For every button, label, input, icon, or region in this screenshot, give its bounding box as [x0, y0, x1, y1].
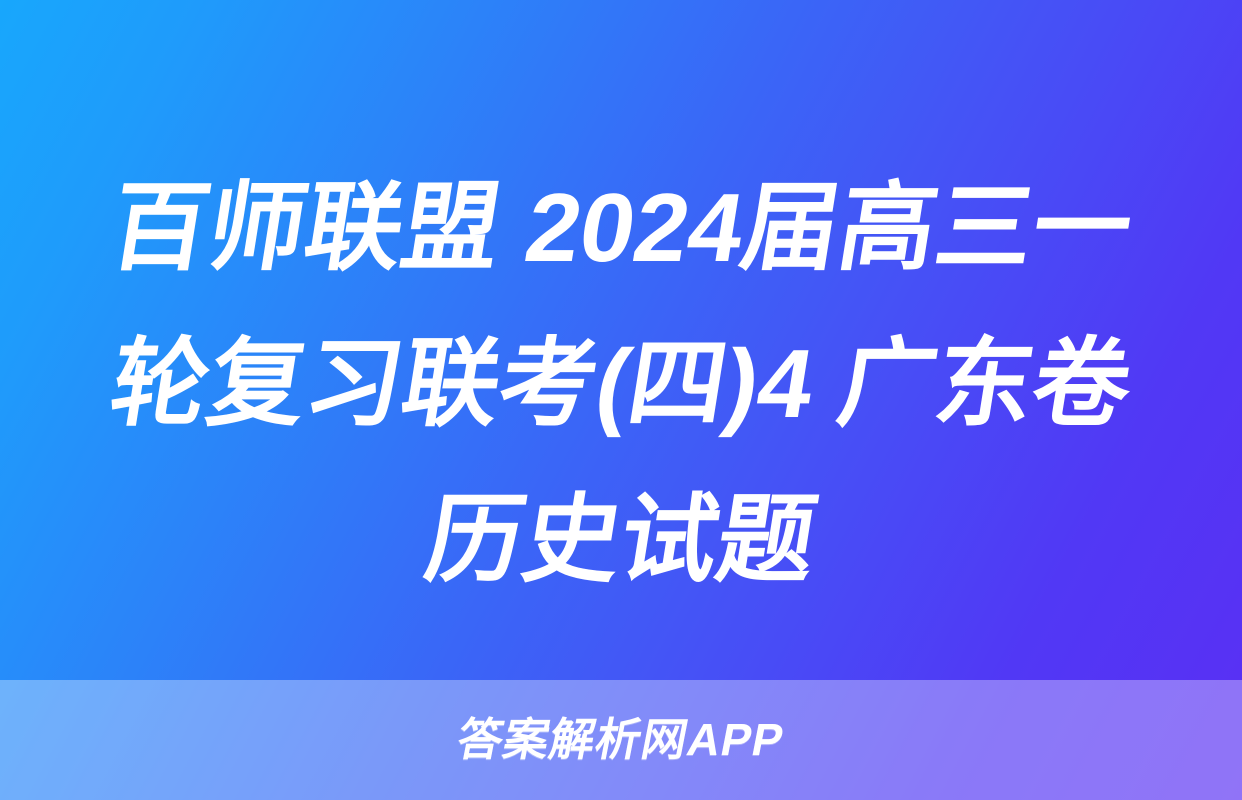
app-watermark-label: 答案解析网APP — [454, 716, 789, 764]
title-line-2: 轮复习联考(四)4 广东卷 — [104, 332, 1139, 436]
title-block: 百师联盟 2024届高三一 轮复习联考(四)4 广东卷 历史试题 — [0, 176, 1242, 592]
title-line-1: 百师联盟 2024届高三一 — [103, 176, 1138, 280]
cover-canvas: 百师联盟 2024届高三一 轮复习联考(四)4 广东卷 历史试题 答案解析网AP… — [0, 0, 1242, 800]
footer-watermark-band: 答案解析网APP — [0, 680, 1242, 800]
title-line-3: 历史试题 — [419, 488, 823, 592]
